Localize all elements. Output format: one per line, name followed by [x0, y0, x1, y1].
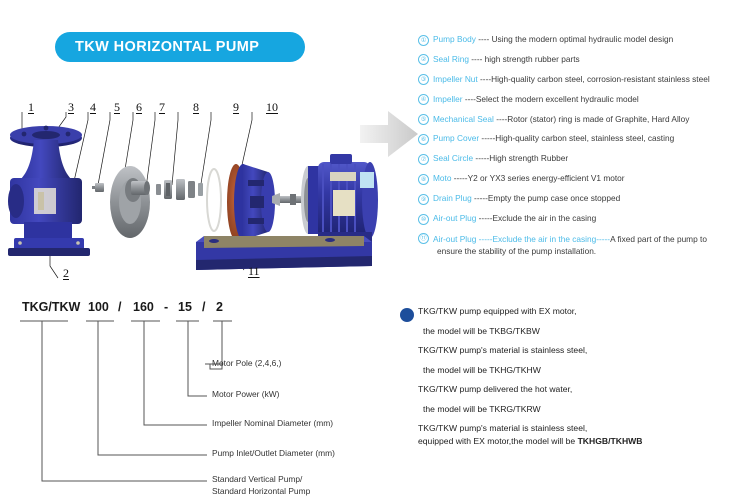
part-name-8: Moto [433, 173, 451, 183]
page-title: TKW HORIZONTAL PUMP [55, 39, 259, 55]
arrow-right-icon [358, 103, 420, 165]
variant-line-1: TKG/TKW pump equipped with EX motor, [418, 306, 756, 316]
part-item-9: ⑨ Drain Plug -----Empty the pump case on… [418, 193, 756, 205]
part-text-1: Pump Body ---- Using the modern optimal … [433, 34, 756, 44]
model-designation-diagram: TKG/TKW 100 / 160 - 15 / 2 Motor Pole (2… [0, 296, 400, 500]
callout-1: 1 [28, 100, 34, 115]
part-dash-1: ---- [476, 34, 492, 44]
part-item-5: ⑤ Mechanical Seal ----Rotor (stator) rin… [418, 114, 756, 126]
variant-line-8: equipped with EX motor,the model will be… [418, 436, 756, 446]
variant-line-2: the model will be TKBG/TKBW [418, 326, 756, 336]
part-dash-4: ---- [463, 94, 476, 104]
pump-cover-part [227, 164, 275, 240]
part-text-6: Pump Cover -----High-quality carbon stee… [433, 133, 756, 143]
part-number-icon-1: ① [418, 35, 429, 46]
callout-4: 4 [90, 100, 96, 115]
variant-line-4: the model will be TKHG/TKHW [418, 365, 756, 375]
part-number-icon-10: ⑩ [418, 214, 429, 225]
part-name-10: Air-out Plug [433, 213, 476, 223]
part-number-icon-11: ⑪ [418, 233, 429, 244]
model-variants-list: TKG/TKW pump equipped with EX motor, the… [418, 306, 756, 456]
callout-11: 11 [248, 264, 260, 279]
part-number-icon-9: ⑨ [418, 194, 429, 205]
part-text-7: Seal Circle -----High strength Rubber [433, 153, 756, 163]
model-key-label-pump-type-2: Standard Horizontal Pump [212, 486, 310, 497]
part-number-icon-3: ③ [418, 74, 429, 85]
exploded-pump-illustration: 1 2 3 4 5 6 7 8 9 10 11 [0, 80, 400, 290]
pump-body-part [8, 126, 90, 256]
part-dash-6: ----- [479, 133, 495, 143]
part-item-4: ④ Impeller ----Select the modern excelle… [418, 94, 756, 106]
part-desc-7: High strength Rubber [489, 153, 568, 163]
part-number-icon-4: ④ [418, 94, 429, 105]
part-text-10: Air-out Plug -----Exclude the air in the… [433, 213, 756, 223]
part-item-3: ③ Impeller Nut ----High-quality carbon s… [418, 74, 756, 86]
bullet-dot-icon [400, 308, 414, 322]
part-item-7: ⑦ Seal Circle -----High strength Rubber [418, 153, 756, 165]
part-desc-1: Using the modern optimal hydraulic model… [492, 34, 674, 44]
callout-2: 2 [63, 266, 69, 281]
callout-7: 7 [159, 100, 165, 115]
part-item-1: ① Pump Body ---- Using the modern optima… [418, 34, 756, 46]
part-desc-11: A fixed part of the pump to [610, 234, 707, 244]
part-dash-3: ---- [478, 74, 491, 84]
part-name-4: Impeller [433, 94, 463, 104]
part-dash-7: ----- [473, 153, 489, 163]
seal-circle-part [207, 169, 221, 231]
part-dash-2: ---- [469, 54, 485, 64]
part-dash-8: ----- [451, 173, 467, 183]
callout-10: 10 [266, 100, 278, 115]
part-desc-5: Rotor (stator) ring is made of Graphite,… [507, 114, 689, 124]
part-name-6: Pump Cover [433, 133, 479, 143]
callout-8: 8 [193, 100, 199, 115]
part-desc-8: Y2 or YX3 series energy-efficient V1 mot… [468, 173, 625, 183]
model-key-label-motor-power: Motor Power (kW) [212, 389, 279, 400]
motor-shaft-part [272, 193, 306, 206]
part-number-icon-5: ⑤ [418, 114, 429, 125]
variant-line-6: the model will be TKRG/TKRW [418, 404, 756, 414]
model-key-label-motor-pole: Motor Pole (2,4,6,) [212, 358, 281, 369]
part-dash-9: ----- [472, 193, 488, 203]
part-name-7: Seal Circle [433, 153, 473, 163]
part-dash-5: ---- [494, 114, 507, 124]
part-text-11: Air-out Plug -----Exclude the air in the… [433, 233, 756, 257]
model-key-label-impeller-diam: Impeller Nominal Diameter (mm) [212, 418, 333, 429]
part-name-2: Seal Ring [433, 54, 469, 64]
variant-line-8-model: TKHGB/TKHWB [578, 436, 643, 446]
part-name-5: Mechanical Seal [433, 114, 494, 124]
part-desc-6: High-quality carbon steel, stainless ste… [495, 133, 674, 143]
part-number-icon-6: ⑥ [418, 134, 429, 145]
exploded-pump-svg [0, 80, 400, 290]
model-key-label-pump-type: Standard Vertical Pump/ [212, 474, 302, 485]
model-key-label-inlet-diam: Pump Inlet/Outlet Diameter (mm) [212, 448, 335, 459]
part-desc-cyan-11: Exclude the air in the casing----- [492, 234, 610, 244]
callout-3: 3 [68, 100, 74, 115]
part-text-9: Drain Plug -----Empty the pump case once… [433, 193, 756, 203]
motor-part [301, 154, 378, 244]
variant-line-7: TKG/TKW pump's material is stainless ste… [418, 423, 756, 433]
part-number-icon-8: ⑧ [418, 174, 429, 185]
part-text-4: Impeller ----Select the modern excellent… [433, 94, 756, 104]
page-title-banner: TKW HORIZONTAL PUMP [55, 32, 305, 62]
callout-6: 6 [136, 100, 142, 115]
variant-line-8-prefix: equipped with EX motor,the model will be [418, 436, 578, 446]
part-item-8: ⑧ Moto -----Y2 or YX3 series energy-effi… [418, 173, 756, 185]
part-text-2: Seal Ring ---- high strength rubber part… [433, 54, 756, 64]
model-key-leader-lines [0, 296, 400, 500]
parts-legend-list: ① Pump Body ---- Using the modern optima… [418, 34, 756, 265]
part-desc-10: Exclude the air in the casing [492, 213, 596, 223]
part-desc-2: high strength rubber parts [485, 54, 580, 64]
part-item-10: ⑩ Air-out Plug -----Exclude the air in t… [418, 213, 756, 225]
part-number-icon-7: ⑦ [418, 154, 429, 165]
part-text-3: Impeller Nut ----High-quality carbon ste… [433, 74, 756, 84]
variant-line-3: TKG/TKW pump's material is stainless ste… [418, 345, 756, 355]
part-text-8: Moto -----Y2 or YX3 series energy-effici… [433, 173, 756, 183]
part-item-11: ⑪ Air-out Plug -----Exclude the air in t… [418, 233, 756, 257]
part-item-2: ② Seal Ring ---- high strength rubber pa… [418, 54, 756, 66]
variant-line-5: TKG/TKW pump delivered the hot water, [418, 384, 756, 394]
part-name-3: Impeller Nut [433, 74, 478, 84]
base-plate-part [196, 236, 372, 270]
part-item-6: ⑥ Pump Cover -----High-quality carbon st… [418, 133, 756, 145]
part-desc-3: High-quality carbon steel, corrosion-res… [491, 74, 710, 84]
part-desc2-11: ensure the stability of the pump install… [433, 245, 756, 257]
part-text-5: Mechanical Seal ----Rotor (stator) ring … [433, 114, 756, 124]
impeller-nut-part [92, 183, 104, 192]
part-desc-4: Select the modern excellent hydraulic mo… [476, 94, 639, 104]
callout-5: 5 [114, 100, 120, 115]
part-number-icon-2: ② [418, 54, 429, 65]
callout-9: 9 [233, 100, 239, 115]
impeller-part [110, 166, 150, 238]
part-dash-11: ----- [476, 234, 492, 244]
part-dash-10: ----- [476, 213, 492, 223]
part-name-9: Drain Plug [433, 193, 472, 203]
part-name-1: Pump Body [433, 34, 476, 44]
part-desc-9: Empty the pump case once stopped [488, 193, 620, 203]
part-name-11: Air-out Plug [433, 234, 476, 244]
mechanical-seal-part [156, 179, 203, 200]
